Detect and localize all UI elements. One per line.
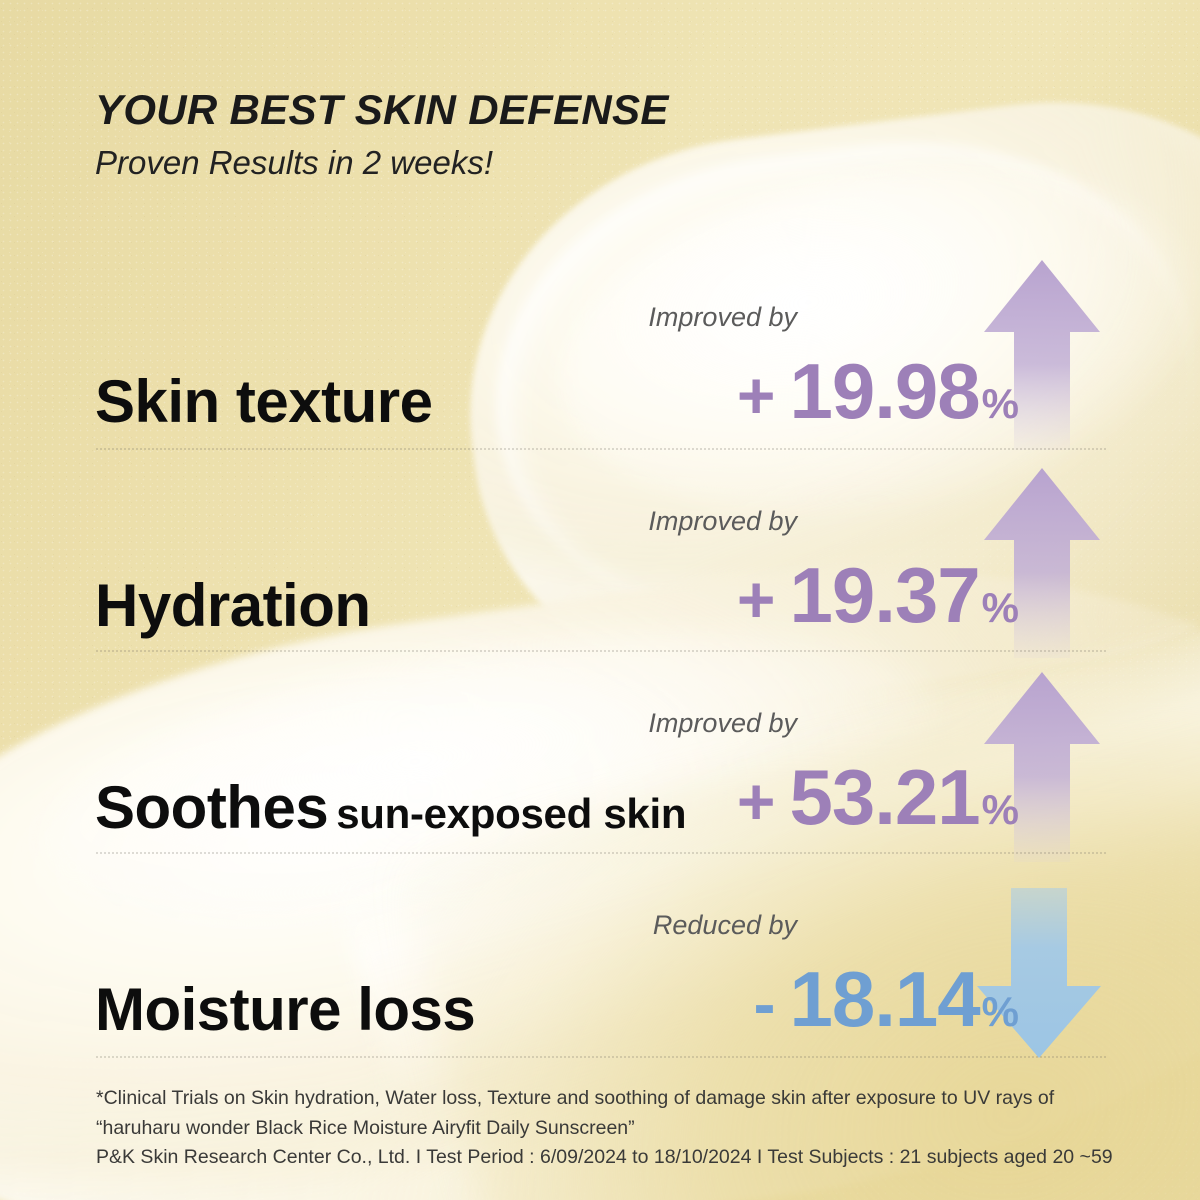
metric-unit: %: [982, 786, 1019, 833]
metric-label: Hydration: [95, 576, 371, 636]
metric-number: 19.98: [789, 347, 979, 435]
metric-label: Soothessun-exposed skin: [95, 778, 686, 838]
metric-sign: +: [737, 358, 778, 432]
metric-sign: +: [737, 764, 778, 838]
metric-row: Soothessun-exposed skin Improved by +53.…: [95, 706, 1107, 854]
metric-label-sub: sun-exposed skin: [336, 790, 686, 837]
footnote-line-1: *Clinical Trials on Skin hydration, Wate…: [96, 1084, 1116, 1114]
footnote-line-2: “haruharu wonder Black Rice Moisture Air…: [96, 1114, 1116, 1144]
metric-label-main: Hydration: [95, 572, 371, 639]
row-divider: [95, 852, 1107, 854]
metric-label-main: Soothes: [95, 774, 328, 841]
metric-unit: %: [982, 380, 1019, 427]
metric-value: +19.98%: [737, 352, 1019, 430]
metric-number: 53.21: [789, 753, 979, 841]
metric-value: -18.14%: [753, 960, 1019, 1038]
metric-row: Hydration Improved by +19.37%: [95, 504, 1107, 652]
metric-label-main: Moisture loss: [95, 976, 475, 1043]
metric-value: +19.37%: [737, 556, 1019, 634]
row-divider: [95, 1056, 1107, 1058]
metric-caption: Improved by: [648, 508, 797, 535]
metric-label: Moisture loss: [95, 980, 475, 1040]
row-divider: [95, 448, 1107, 450]
footnote-line-3: P&K Skin Research Center Co., Ltd. I Tes…: [96, 1143, 1116, 1173]
page-subtitle: Proven Results in 2 weeks!: [95, 146, 669, 181]
metric-value: +53.21%: [737, 758, 1019, 836]
metric-sign: +: [737, 562, 778, 636]
metric-row: Moisture loss Reduced by -18.14%: [95, 908, 1107, 1056]
footnote-block: *Clinical Trials on Skin hydration, Wate…: [96, 1084, 1116, 1173]
header-block: YOUR BEST SKIN DEFENSE Proven Results in…: [95, 88, 669, 181]
metric-sign: -: [753, 966, 777, 1040]
metric-label: Skin texture: [95, 372, 432, 432]
metric-label-main: Skin texture: [95, 368, 432, 435]
page-title: YOUR BEST SKIN DEFENSE: [95, 88, 669, 132]
metric-number: 18.14: [789, 955, 979, 1043]
metric-caption: Improved by: [648, 710, 797, 737]
metric-caption: Improved by: [648, 304, 797, 331]
infographic-poster: YOUR BEST SKIN DEFENSE Proven Results in…: [0, 0, 1200, 1200]
row-divider: [95, 650, 1107, 652]
metric-row: Skin texture Improved by +19.98%: [95, 300, 1107, 448]
metric-unit: %: [982, 988, 1019, 1035]
metric-caption: Reduced by: [653, 912, 797, 939]
metric-number: 19.37: [789, 551, 979, 639]
metric-unit: %: [982, 584, 1019, 631]
